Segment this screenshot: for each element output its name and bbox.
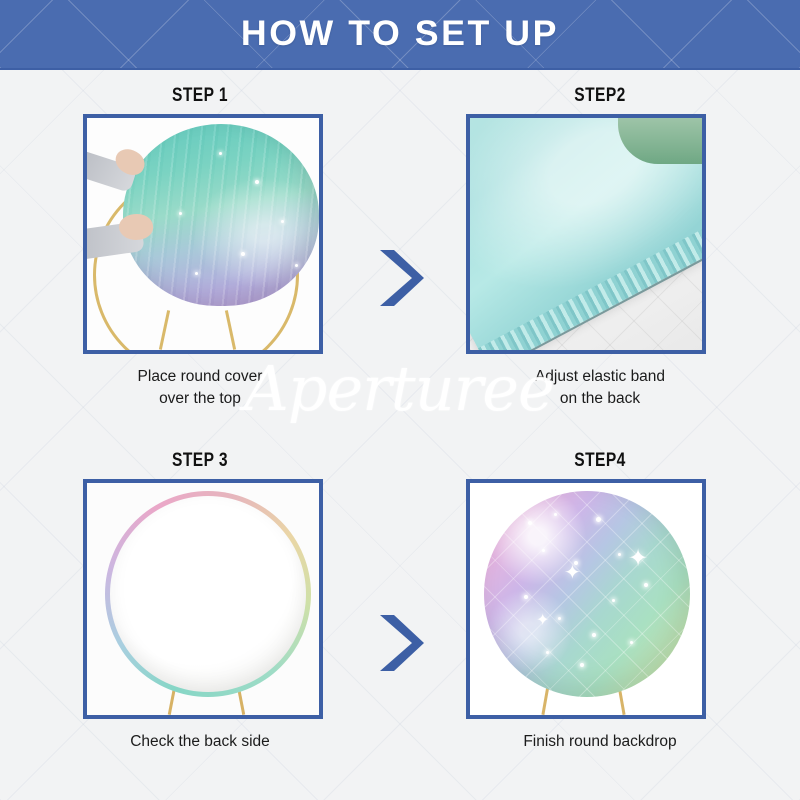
step-1-photo-frame bbox=[83, 114, 323, 354]
step-3-photo-frame bbox=[83, 479, 323, 719]
step-1-label: STEP 1 bbox=[36, 85, 364, 107]
sparkle-dot bbox=[630, 641, 633, 644]
sparkle-dot bbox=[295, 264, 298, 267]
sparkle-burst-icon: ✦ bbox=[628, 547, 648, 571]
step-2-label: STEP2 bbox=[436, 85, 764, 107]
caption-line: on the back bbox=[400, 388, 800, 410]
step-2-photo bbox=[470, 118, 702, 350]
step-2-caption: Adjust elastic band on the back bbox=[400, 366, 800, 410]
sparkle-dot bbox=[524, 595, 528, 599]
step-1-photo bbox=[87, 118, 319, 350]
step-cell-2: STEP2 Adjust elastic band on the bac bbox=[400, 70, 800, 435]
sparkle-dot bbox=[281, 220, 284, 223]
sparkle-dot bbox=[618, 553, 621, 556]
sparkle-dot bbox=[241, 252, 245, 256]
step-3-caption: Check the back side bbox=[0, 731, 400, 753]
quilt-grid-pattern bbox=[484, 491, 690, 697]
step-4-photo: ✦ ✦ ✦ bbox=[470, 483, 702, 715]
sparkle-dot bbox=[644, 583, 648, 587]
sparkle-burst-icon: ✦ bbox=[536, 613, 549, 629]
sparkle-burst-icon: ✦ bbox=[564, 563, 581, 583]
sparkle-dot bbox=[554, 513, 557, 516]
caption-line: Place round cover bbox=[0, 366, 400, 388]
step-cell-4: STEP4 bbox=[400, 435, 800, 800]
header-banner: HOW TO SET UP bbox=[0, 0, 800, 70]
sparkle-dot bbox=[558, 617, 561, 620]
caption-line: Finish round backdrop bbox=[400, 731, 800, 753]
step-row-2: STEP 3 Check the back side bbox=[0, 435, 800, 800]
caption-line: Adjust elastic band bbox=[400, 366, 800, 388]
chevron-right-icon bbox=[372, 611, 428, 675]
white-back-face bbox=[110, 496, 306, 692]
sparkle-dot bbox=[546, 651, 549, 654]
sparkle-dot bbox=[542, 549, 545, 552]
step-2-photo-frame bbox=[466, 114, 706, 354]
step-3-label: STEP 3 bbox=[36, 450, 364, 472]
sparkle-dot bbox=[596, 517, 601, 522]
gradient-cover-fabric bbox=[123, 124, 319, 306]
chevron-right-icon bbox=[372, 246, 428, 310]
sparkle-dot bbox=[580, 663, 584, 667]
step-4-caption: Finish round backdrop bbox=[400, 731, 800, 753]
step-row-1: STEP 1 bbox=[0, 70, 800, 435]
sparkle-dot bbox=[528, 521, 532, 525]
step-1-caption: Place round cover over the top bbox=[0, 366, 400, 410]
sparkle-dot bbox=[592, 633, 596, 637]
sparkle-dot bbox=[255, 180, 259, 184]
step-4-photo-frame: ✦ ✦ ✦ bbox=[466, 479, 706, 719]
step-3-photo bbox=[87, 483, 319, 715]
caption-line: over the top bbox=[0, 388, 400, 410]
sparkle-dot bbox=[179, 212, 182, 215]
sparkle-dot bbox=[219, 152, 222, 155]
caption-line: Check the back side bbox=[0, 731, 400, 753]
finished-backdrop: ✦ ✦ ✦ bbox=[484, 491, 690, 697]
step-cell-1: STEP 1 bbox=[0, 70, 400, 435]
step-4-label: STEP4 bbox=[436, 450, 764, 472]
how-to-set-up-infographic: HOW TO SET UP STEP 1 bbox=[0, 0, 800, 800]
step-cell-3: STEP 3 Check the back side bbox=[0, 435, 400, 800]
page-title: HOW TO SET UP bbox=[241, 14, 559, 54]
sparkle-dot bbox=[195, 272, 198, 275]
sparkle-dot bbox=[612, 599, 615, 602]
steps-grid: STEP 1 bbox=[0, 70, 800, 800]
backdrop-back-side bbox=[105, 491, 311, 697]
